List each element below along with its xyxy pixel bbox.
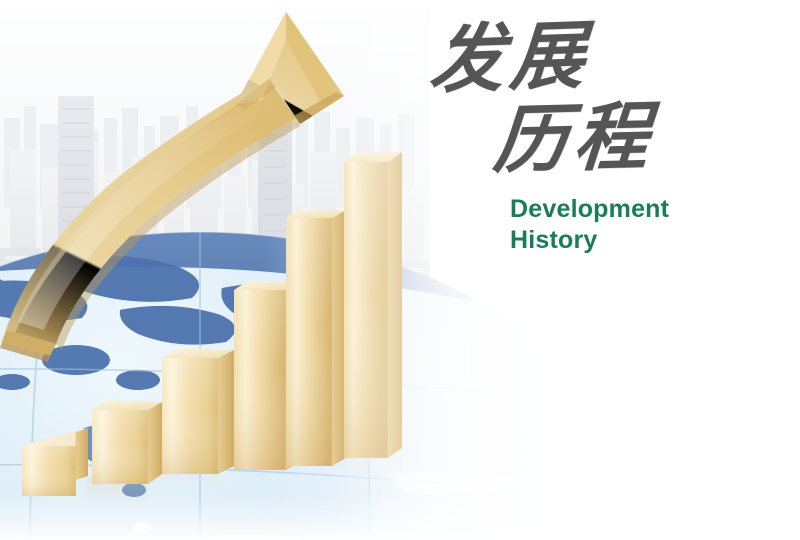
chinese-title-line-2-text: 历程 — [491, 100, 657, 178]
english-title-block: Development History — [510, 194, 754, 255]
chinese-title-line-1-text: 发展 — [427, 18, 593, 98]
chinese-title-line-2: 历程 — [424, 104, 754, 178]
english-title-line-2: History — [510, 225, 754, 256]
world-globe — [0, 232, 630, 540]
english-title-line-1: Development — [510, 194, 754, 225]
development-history-banner: 发展 历程 Development History — [0, 0, 800, 540]
title-block: 发展 历程 Development History — [424, 24, 754, 255]
chinese-title-line-1: 发展 — [424, 24, 754, 98]
globe-map-icon — [0, 232, 630, 540]
